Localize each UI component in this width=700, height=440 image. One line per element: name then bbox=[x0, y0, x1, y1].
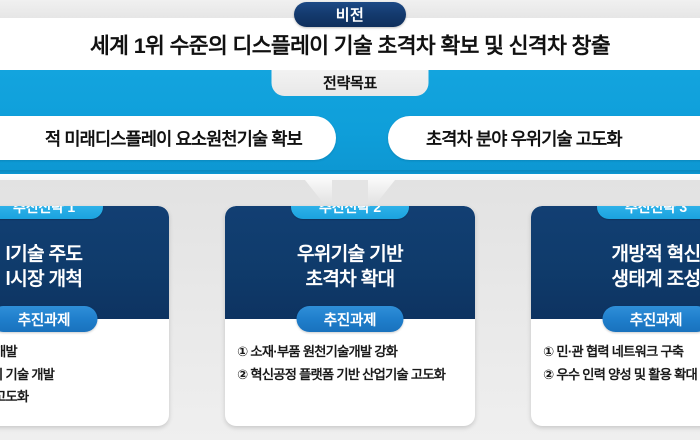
strategy-card-3-head: 추진전략 3 개방적 혁신 생태계 조성 bbox=[531, 206, 700, 319]
strategy-card-2-task-badge: 추진과제 bbox=[297, 306, 404, 332]
strategy-card-1-title: l기술 주도 l시장 개척 bbox=[6, 243, 83, 292]
strategy-card-1-task-list: 플레이 기술 개발 품 디스플레이 기술 개발 플레이 기술 고도화 bbox=[0, 341, 169, 409]
strategy-infographic: 비전 세계 1위 수준의 디스플레이 기술 초격차 확보 및 신격차 창출 전략… bbox=[0, 0, 700, 440]
strategy-card-3-task-list: ① 민·관 협력 네트워크 구축 ② 우수 인력 양성 및 활용 확대 bbox=[531, 341, 700, 386]
task-item: ② 우수 인력 양성 및 활용 확대 bbox=[543, 364, 700, 387]
task-item: ① 민·관 협력 네트워크 구축 bbox=[543, 341, 700, 364]
vision-title: 세계 1위 수준의 디스플레이 기술 초격차 확보 및 신격차 창출 bbox=[90, 29, 610, 60]
strategy-card-2-task-badge-label: 추진과제 bbox=[324, 309, 377, 330]
strategic-goal-tab-label: 전략목표 bbox=[323, 72, 377, 93]
strategy-card-1-task-badge: 추진과제 bbox=[0, 306, 98, 332]
strategy-card-1[interactable]: 추진전략 1 l기술 주도 l시장 개척 추진과제 플레이 기술 개발 품 디스… bbox=[0, 206, 169, 426]
strategic-goal-text-2: 초격차 분야 우위기술 고도화 bbox=[426, 126, 622, 151]
strategy-cards-row: 추진전략 1 l기술 주도 l시장 개척 추진과제 플레이 기술 개발 품 디스… bbox=[0, 206, 700, 440]
strategy-card-2-badge-label: 추진전략 2 bbox=[319, 206, 381, 217]
strategy-card-2-badge: 추진전략 2 bbox=[291, 206, 409, 219]
strategy-card-3-task-badge: 추진과제 bbox=[603, 306, 700, 332]
strategy-card-2-title: 우위기술 기반 초격차 확대 bbox=[297, 243, 403, 292]
vision-badge-label: 비전 bbox=[336, 4, 365, 25]
task-item: 플레이 기술 개발 bbox=[0, 341, 159, 364]
strategy-card-1-badge-label: 추진전략 1 bbox=[13, 206, 75, 217]
strategy-card-2-task-list: ① 소재·부품 원천기술개발 강화 ② 혁신공정 플랫폼 기반 산업기술 고도화 bbox=[225, 341, 475, 386]
strategy-card-3[interactable]: 추진전략 3 개방적 혁신 생태계 조성 추진과제 ① 민·관 협력 네트워크 … bbox=[531, 206, 700, 426]
strategy-card-1-body: 플레이 기술 개발 품 디스플레이 기술 개발 플레이 기술 고도화 bbox=[0, 319, 169, 409]
strategy-card-1-badge: 추진전략 1 bbox=[0, 206, 103, 219]
task-item: ① 소재·부품 원천기술개발 강화 bbox=[237, 341, 465, 364]
strategy-card-1-task-badge-label: 추진과제 bbox=[18, 309, 71, 330]
strategic-goal-pill-1: 적 미래디스플레이 요소원천기술 확보 bbox=[0, 116, 336, 160]
strategic-goal-tab: 전략목표 bbox=[272, 70, 429, 96]
strategy-card-3-task-badge-label: 추진과제 bbox=[630, 309, 683, 330]
strategic-goal-pill-2: 초격차 분야 우위기술 고도화 bbox=[388, 116, 700, 160]
strategy-card-3-badge: 추진전략 3 bbox=[597, 206, 700, 219]
task-item: 품 디스플레이 기술 개발 bbox=[0, 364, 159, 387]
strategy-card-3-badge-label: 추진전략 3 bbox=[625, 206, 687, 217]
strategy-card-2-head: 추진전략 2 우위기술 기반 초격차 확대 bbox=[225, 206, 475, 319]
strategy-card-3-title: 개방적 혁신 생태계 조성 bbox=[611, 243, 700, 292]
task-item: 플레이 기술 고도화 bbox=[0, 386, 159, 409]
strategy-card-2[interactable]: 추진전략 2 우위기술 기반 초격차 확대 추진과제 ① 소재·부품 원천기술개… bbox=[225, 206, 475, 426]
task-item: ② 혁신공정 플랫폼 기반 산업기술 고도화 bbox=[237, 364, 465, 387]
vision-badge: 비전 bbox=[294, 2, 406, 27]
strategic-goal-text-1: 적 미래디스플레이 요소원천기술 확보 bbox=[45, 126, 302, 151]
strategy-card-1-head: 추진전략 1 l기술 주도 l시장 개척 bbox=[0, 206, 169, 319]
